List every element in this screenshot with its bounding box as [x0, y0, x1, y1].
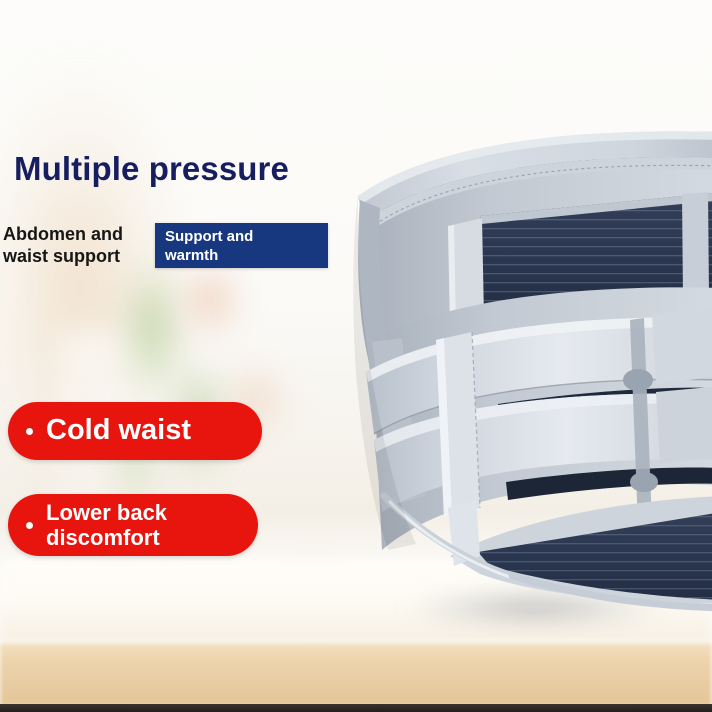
badge-support-and-warmth-label: Support and warmth [165, 228, 253, 266]
background-bottom-strip [0, 704, 712, 712]
benefit-pill-cold-waist: Cold waist [8, 402, 262, 460]
lumbar-belt-illustration [330, 104, 712, 614]
badge-support-and-warmth: Support and warmth [155, 223, 328, 268]
background-wood-table-edge [0, 644, 712, 706]
benefit-pill-lower-back-discomfort: Lower back discomfort [8, 494, 258, 556]
product-ad-banner: Multiple pressure Abdomen and waist supp… [0, 0, 712, 712]
belt-cord-loop-upper [623, 369, 653, 391]
belt-cord-loop-lower [630, 472, 658, 492]
subhead-abdomen-waist-support: Abdomen and waist support [3, 224, 123, 268]
product-image-lumbar-support-belt [330, 104, 712, 614]
headline-multiple-pressure: Multiple pressure [14, 150, 289, 188]
belt-right-panel-upper [652, 308, 712, 384]
belt-front-stay-right [682, 192, 709, 298]
belt-right-panel-lower [656, 386, 712, 464]
benefit-pill-cold-waist-label: Cold waist [46, 414, 191, 447]
bullet-dot-icon [26, 522, 33, 529]
benefit-pill-lower-back-discomfort-label: Lower back discomfort [46, 500, 167, 550]
bullet-dot-icon [26, 428, 33, 435]
